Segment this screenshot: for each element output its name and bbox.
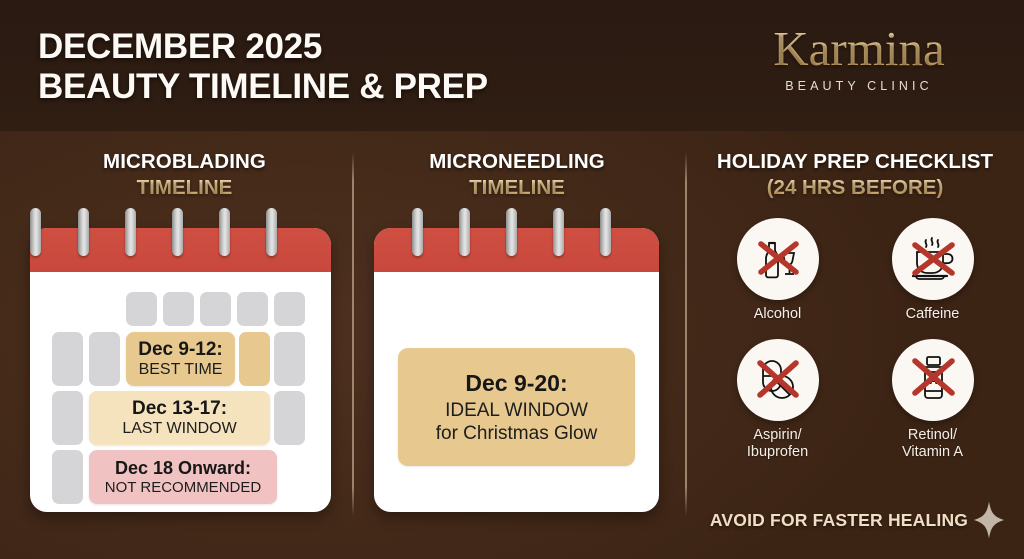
checklist-item-label: Aspirin/ Ibuprofen bbox=[747, 427, 808, 461]
calendar-rings bbox=[30, 208, 331, 258]
checklist-item-label: Caffeine bbox=[906, 306, 960, 323]
ring bbox=[219, 208, 230, 256]
band-line-2: LAST WINDOW bbox=[122, 420, 236, 438]
no-pills-icon bbox=[737, 339, 819, 421]
no-caffeine-glyph bbox=[903, 229, 963, 289]
checklist-item-label: Alcohol bbox=[754, 306, 802, 323]
calendar-cell bbox=[89, 332, 120, 386]
heading-line-2: TIMELINE bbox=[372, 176, 662, 200]
checklist-grid: Alcohol bbox=[700, 218, 1010, 461]
avoid-footer: AVOID FOR FASTER HEALING bbox=[700, 500, 1016, 540]
ring bbox=[266, 208, 277, 256]
brand-logo: Karmina BEAUTY CLINIC bbox=[734, 22, 984, 93]
band-line-1: Dec 13-17: bbox=[132, 398, 227, 420]
no-caffeine-icon bbox=[892, 218, 974, 300]
timeline-band-not-recommended: Dec 18 Onward: NOT RECOMMENDED bbox=[89, 450, 277, 504]
heading-line-1: MICROBLADING bbox=[32, 150, 337, 174]
title-line-2: BEAUTY TIMELINE & PREP bbox=[38, 67, 488, 107]
sparkle-icon bbox=[972, 500, 1006, 540]
calendar-cell bbox=[163, 292, 194, 326]
band-line-1: Dec 9-20: bbox=[465, 370, 567, 397]
column-divider-left bbox=[352, 152, 354, 516]
microblading-calendar-card: Dec 9-12: BEST TIME Dec 13-17: LAST WIND… bbox=[30, 228, 331, 512]
heading-line-2: TIMELINE bbox=[32, 176, 337, 200]
ring bbox=[600, 208, 611, 256]
calendar-cell bbox=[52, 450, 83, 504]
no-retinol-icon: A bbox=[892, 339, 974, 421]
timeline-band-last-window: Dec 13-17: LAST WINDOW bbox=[89, 391, 270, 445]
column-divider-right bbox=[685, 152, 687, 516]
band-line-2: NOT RECOMMENDED bbox=[105, 479, 261, 496]
calendar-grid: Dec 9-20: IDEAL WINDOW for Christmas Glo… bbox=[374, 272, 659, 512]
logo-tagline: BEAUTY CLINIC bbox=[734, 79, 984, 93]
checklist-item-label: Retinol/ Vitamin A bbox=[902, 427, 963, 461]
calendar-cell bbox=[126, 292, 157, 326]
checklist-item-alcohol: Alcohol bbox=[700, 218, 855, 323]
calendar-cell bbox=[200, 292, 231, 326]
calendar-cell bbox=[237, 292, 268, 326]
column-heading-checklist: HOLIDAY PREP CHECKLIST (24 HRS BEFORE) bbox=[695, 150, 1015, 200]
ring bbox=[553, 208, 564, 256]
column-heading-microblading: MICROBLADING TIMELINE bbox=[32, 150, 337, 200]
calendar-rings bbox=[374, 208, 659, 258]
ring bbox=[459, 208, 470, 256]
band-line-3: for Christmas Glow bbox=[436, 423, 598, 445]
no-retinol-glyph: A bbox=[903, 350, 963, 410]
calendar-cell bbox=[274, 292, 305, 326]
ring bbox=[78, 208, 89, 256]
checklist-item-caffeine: Caffeine bbox=[855, 218, 1010, 323]
calendar-cell bbox=[274, 332, 305, 386]
ring bbox=[172, 208, 183, 256]
microneedling-calendar-card: Dec 9-20: IDEAL WINDOW for Christmas Glo… bbox=[374, 228, 659, 512]
calendar-cell bbox=[52, 332, 83, 386]
calendar-cell bbox=[274, 391, 305, 445]
heading-line-2: (24 HRS BEFORE) bbox=[695, 176, 1015, 200]
no-alcohol-icon bbox=[737, 218, 819, 300]
ring bbox=[412, 208, 423, 256]
no-pills-glyph bbox=[748, 350, 808, 410]
calendar-grid: Dec 9-12: BEST TIME Dec 13-17: LAST WIND… bbox=[30, 272, 331, 512]
ring bbox=[125, 208, 136, 256]
checklist-item-aspirin: Aspirin/ Ibuprofen bbox=[700, 339, 855, 461]
column-heading-microneedling: MICRONEEDLING TIMELINE bbox=[372, 150, 662, 200]
checklist-item-retinol: A Retinol/ Vitamin A bbox=[855, 339, 1010, 461]
ring bbox=[506, 208, 517, 256]
logo-wordmark: Karmina bbox=[734, 22, 984, 76]
heading-line-1: HOLIDAY PREP CHECKLIST bbox=[695, 150, 1015, 174]
avoid-footer-text: AVOID FOR FASTER HEALING bbox=[710, 510, 968, 531]
timeline-band-best-time: Dec 9-12: BEST TIME bbox=[126, 332, 235, 386]
calendar-cell bbox=[52, 391, 83, 445]
ring bbox=[30, 208, 41, 256]
band-line-1: Dec 9-12: bbox=[138, 339, 223, 361]
page-title: DECEMBER 2025 BEAUTY TIMELINE & PREP bbox=[38, 27, 488, 107]
band-line-2: IDEAL WINDOW bbox=[445, 400, 588, 422]
holiday-prep-checklist: Alcohol bbox=[700, 218, 1010, 461]
calendar-cell-highlight bbox=[239, 332, 270, 386]
timeline-band-ideal-window: Dec 9-20: IDEAL WINDOW for Christmas Glo… bbox=[398, 348, 635, 466]
infographic-canvas: DECEMBER 2025 BEAUTY TIMELINE & PREP Kar… bbox=[0, 0, 1024, 559]
no-alcohol-glyph bbox=[748, 229, 808, 289]
heading-line-1: MICRONEEDLING bbox=[372, 150, 662, 174]
title-line-1: DECEMBER 2025 bbox=[38, 27, 488, 67]
band-line-2: BEST TIME bbox=[139, 361, 223, 379]
band-line-1: Dec 18 Onward: bbox=[115, 458, 251, 479]
